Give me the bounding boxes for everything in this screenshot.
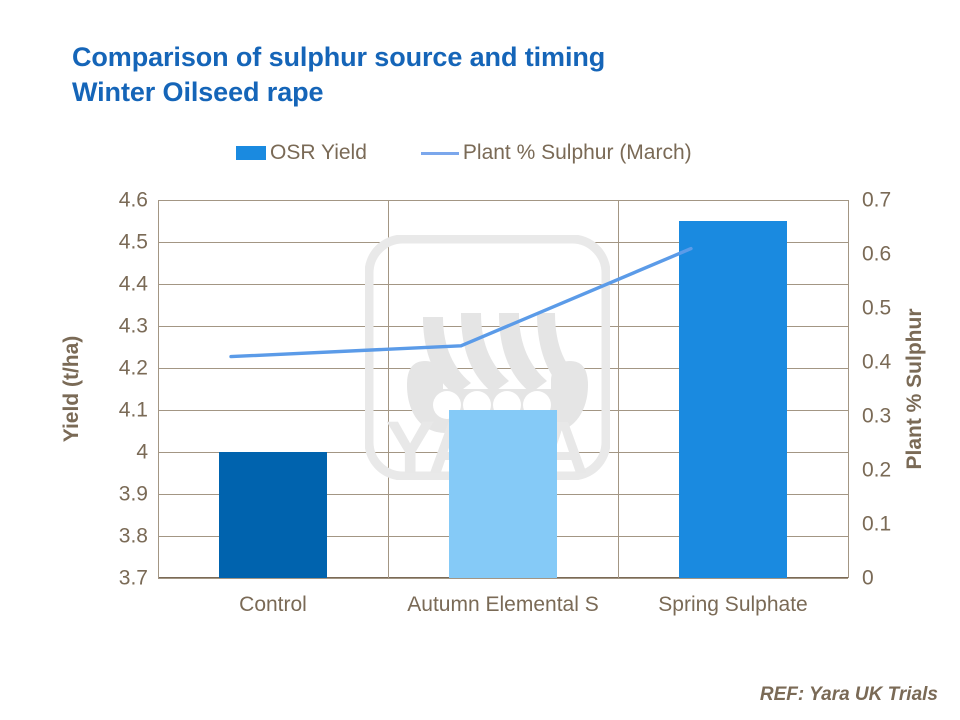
right-axis-tick-label: 0.3 xyxy=(862,406,891,427)
left-axis-tick-labels: 3.73.83.944.14.24.34.44.54.6 xyxy=(86,200,148,578)
legend-item-label: Plant % Sulphur (March) xyxy=(463,141,692,165)
left-axis-tick-label: 3.7 xyxy=(119,568,148,589)
right-axis-tick-label: 0.5 xyxy=(862,298,891,319)
left-axis-tick-label: 3.8 xyxy=(119,526,148,547)
left-axis-title: Yield (t/ha) xyxy=(60,336,84,443)
right-axis-tick-label: 0.7 xyxy=(862,190,891,211)
left-axis-tick-label: 4 xyxy=(136,442,148,463)
chart-container: Comparison of sulphur source and timing … xyxy=(0,0,960,720)
x-axis-tick-label: Spring Sulphate xyxy=(658,594,807,615)
right-axis-tick-label: 0.2 xyxy=(862,460,891,481)
right-axis-tick-label: 0.4 xyxy=(862,352,891,373)
reference-note: REF: Yara UK Trials xyxy=(760,684,938,706)
chart-title: Comparison of sulphur source and timing … xyxy=(72,40,892,109)
left-axis-tick-label: 4.5 xyxy=(119,232,148,253)
gridline xyxy=(158,578,848,579)
line-swatch-icon xyxy=(421,152,459,155)
legend-item-label: OSR Yield xyxy=(270,141,367,165)
legend-item-osr-yield: OSR Yield xyxy=(236,141,367,165)
bar-swatch-icon xyxy=(236,146,266,160)
x-axis-tick-label: Control xyxy=(239,594,307,615)
left-axis-tick-label: 4.1 xyxy=(119,400,148,421)
right-axis-tick-label: 0 xyxy=(862,568,874,589)
left-axis-tick-label: 4.2 xyxy=(119,358,148,379)
x-axis-category-labels: ControlAutumn Elemental SSpring Sulphate xyxy=(158,594,848,624)
plant-sulphur-line xyxy=(231,249,691,357)
right-axis-tick-label: 0.1 xyxy=(862,514,891,535)
right-axis-tick-label: 0.6 xyxy=(862,244,891,265)
left-axis-tick-label: 3.9 xyxy=(119,484,148,505)
left-axis-tick-label: 4.3 xyxy=(119,316,148,337)
legend-item-plant-sulphur: Plant % Sulphur (March) xyxy=(421,141,692,165)
chart-legend: OSR Yield Plant % Sulphur (March) xyxy=(236,141,692,165)
line-series xyxy=(158,200,848,578)
left-axis-tick-label: 4.6 xyxy=(119,190,148,211)
right-axis-title: Plant % Sulphur xyxy=(903,308,927,469)
left-axis-tick-label: 4.4 xyxy=(119,274,148,295)
right-axis-spine xyxy=(848,200,849,578)
x-axis-tick-label: Autumn Elemental S xyxy=(407,594,598,615)
plot-area: YARA xyxy=(158,200,848,578)
chart-title-line-1: Comparison of sulphur source and timing xyxy=(72,40,892,75)
chart-title-line-2: Winter Oilseed rape xyxy=(72,75,892,110)
